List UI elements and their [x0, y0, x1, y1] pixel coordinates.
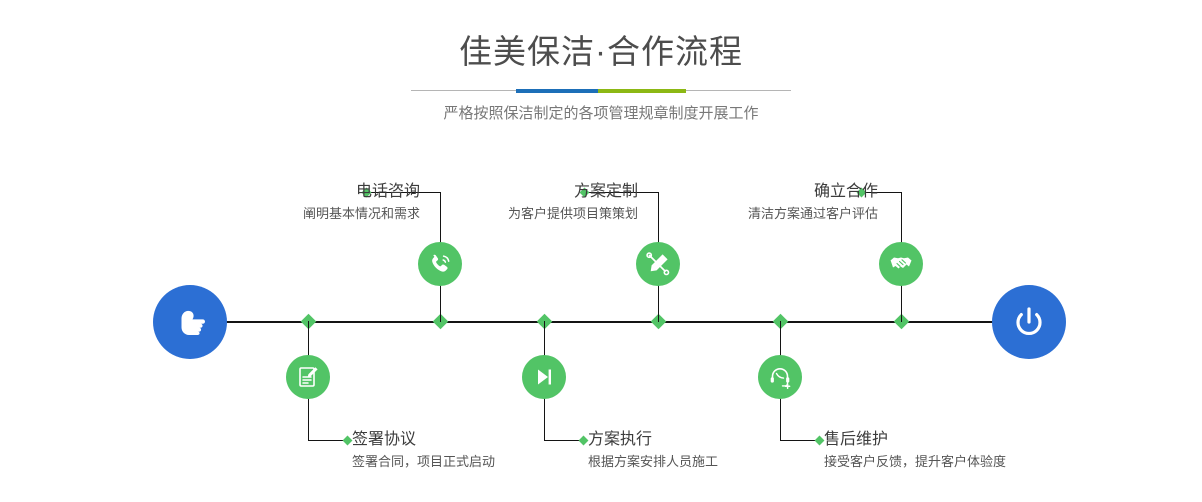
handshake-icon — [888, 251, 914, 277]
timeline-start-endpoint[interactable] — [153, 285, 227, 359]
power-icon — [1009, 302, 1049, 342]
divider-blue-segment — [516, 89, 598, 93]
process-flow-page: 佳美保洁·合作流程 严格按照保洁制定的各项管理规章制度开展工作 — [0, 0, 1202, 502]
node-step-6[interactable] — [758, 355, 802, 399]
page-header: 佳美保洁·合作流程 严格按照保洁制定的各项管理规章制度开展工作 — [0, 30, 1202, 124]
timeline: 电话咨询 阐明基本情况和需求 签署协议 签署合同，项目正式启动 — [0, 160, 1202, 502]
label-step-6: 售后维护 接受客户反馈，提升客户体验度 — [824, 429, 1144, 472]
document-edit-icon — [295, 364, 321, 390]
lead-line-step-6 — [780, 440, 818, 441]
phone-call-icon — [427, 251, 453, 277]
node-step-5[interactable] — [879, 242, 923, 286]
play-forward-icon — [531, 364, 557, 390]
node-step-2[interactable] — [286, 355, 330, 399]
node-step-4[interactable] — [522, 355, 566, 399]
headset-support-icon — [767, 364, 793, 390]
pencil-ruler-icon — [645, 251, 671, 277]
node-step-3[interactable] — [636, 242, 680, 286]
node-step-1[interactable] — [418, 242, 462, 286]
lead-dot-step-2 — [343, 436, 353, 446]
label-title-step-6: 售后维护 — [824, 429, 1144, 451]
label-desc-step-6: 接受客户反馈，提升客户体验度 — [824, 452, 1144, 472]
title-divider — [411, 89, 791, 93]
page-title: 佳美保洁·合作流程 — [0, 30, 1202, 74]
timeline-end-endpoint[interactable] — [992, 285, 1066, 359]
label-desc-step-5: 清洁方案通过客户评估 — [578, 204, 878, 224]
label-step-5: 确立合作 清洁方案通过客户评估 — [578, 181, 878, 224]
pointing-hand-icon — [170, 302, 210, 342]
lead-line-step-4 — [544, 440, 582, 441]
divider-green-segment — [598, 89, 686, 93]
page-subtitle: 严格按照保洁制定的各项管理规章制度开展工作 — [0, 104, 1202, 124]
label-title-step-5: 确立合作 — [578, 181, 878, 203]
lead-line-step-2 — [308, 440, 346, 441]
